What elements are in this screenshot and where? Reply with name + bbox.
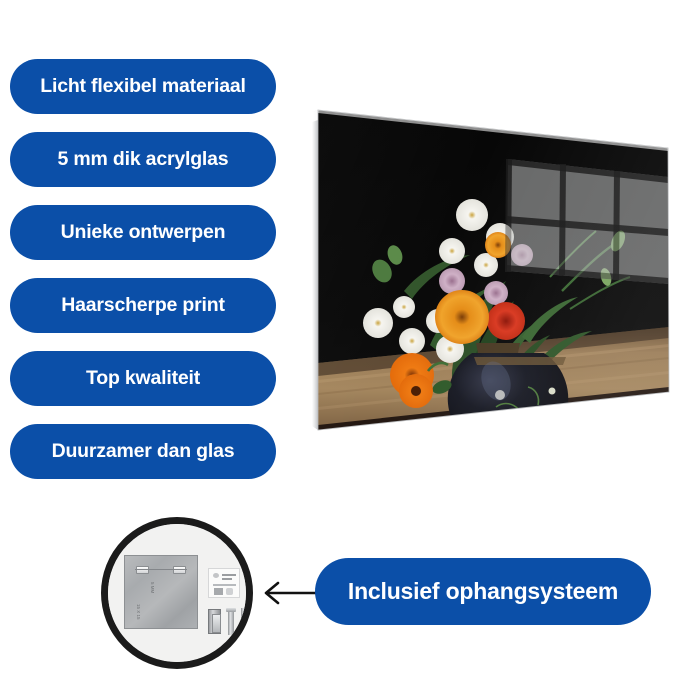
- feature-badge-5-mm-dik-acrylglas[interactable]: 5 mm dik acrylglas: [10, 132, 276, 187]
- feature-badge-label: Licht flexibel materiaal: [40, 75, 245, 98]
- feature-badge-label: Duurzamer dan glas: [52, 440, 235, 463]
- product-image-acrylglas-print: [300, 95, 680, 450]
- feature-badge-list: Licht flexibel materiaal 5 mm dik acrylg…: [10, 59, 276, 497]
- hanging-system-photo: 5 MM 15 X 15: [108, 524, 246, 662]
- vase-foot: [486, 431, 546, 443]
- mounting-plate-marking: 5 MM: [150, 582, 155, 593]
- mounting-plate-slot-right: [173, 566, 186, 574]
- feature-badge-haarscherpe-print[interactable]: Haarscherpe print: [10, 278, 276, 333]
- spacer-clip-icon: [251, 623, 253, 633]
- feature-badge-duurzamer-dan-glas[interactable]: Duurzamer dan glas: [10, 424, 276, 479]
- hanging-system-callout-circle: 5 MM 15 X 15: [101, 517, 253, 669]
- acrylic-edge-highlight: [312, 110, 318, 122]
- feature-badge-top-kwaliteit[interactable]: Top kwaliteit: [10, 351, 276, 406]
- feature-badge-label: Unieke ontwerpen: [61, 221, 226, 244]
- arrow-head-icon: [266, 583, 278, 603]
- mounting-plate-slot-left: [136, 566, 149, 574]
- acrylic-edge-left: [312, 110, 318, 430]
- feature-badge-label: Top kwaliteit: [86, 367, 200, 390]
- wall-plug-icon: [208, 609, 221, 634]
- mounting-plate-icon: 5 MM 15 X 15: [124, 555, 198, 629]
- feature-badge-licht-flexibel-materiaal[interactable]: Licht flexibel materiaal: [10, 59, 276, 114]
- spacer-clip-icon: [251, 609, 253, 619]
- mounting-plate-marking: 15 X 15: [136, 604, 141, 620]
- feature-badge-inclusief-ophangsysteem[interactable]: Inclusief ophangsysteem: [315, 558, 651, 625]
- product-feature-composite: Licht flexibel materiaal 5 mm dik acrylg…: [0, 0, 700, 700]
- feature-badge-label: 5 mm dik acrylglas: [58, 148, 229, 171]
- screw-icon: [228, 608, 234, 635]
- metal-pin-icon: [241, 608, 246, 635]
- feature-badge-label: Inclusief ophangsysteem: [348, 578, 618, 605]
- feature-badge-label: Haarscherpe print: [61, 294, 225, 317]
- feature-badge-unieke-ontwerpen[interactable]: Unieke ontwerpen: [10, 205, 276, 260]
- instruction-leaflet-icon: [208, 568, 240, 598]
- acrylic-print-svg: [300, 95, 680, 450]
